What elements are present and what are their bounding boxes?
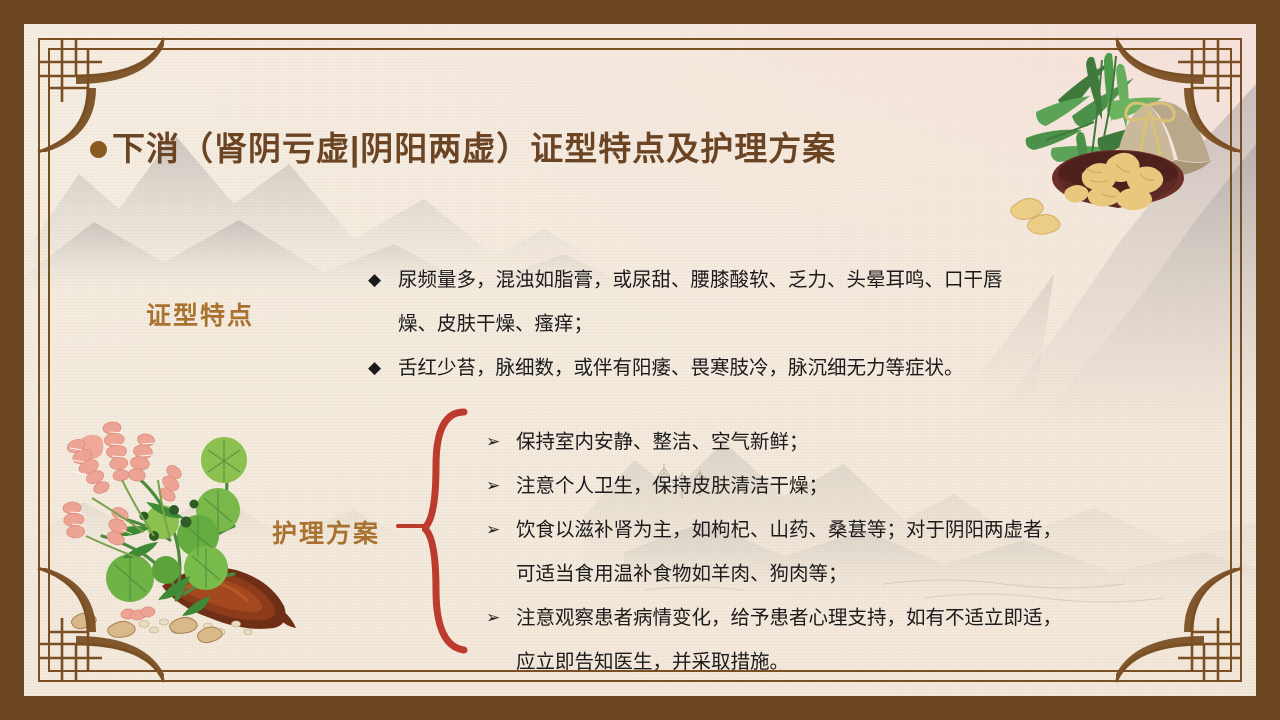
list-item-line: 注意观察患者病情变化，给予患者心理支持，如有不适立即适，	[516, 596, 1201, 640]
list-item: ◆ 尿频量多，混浊如脂膏，或尿甜、腰膝酸软、乏力、头晕耳鸣、口干唇 燥、皮肤干燥…	[368, 258, 1168, 346]
list-item: ◆ 舌红少苔，脉细数，或伴有阳痿、畏寒肢冷，脉沉细无力等症状。	[368, 346, 1168, 390]
page-title-text: 下消（肾阴亏虚|阴阳两虚）证型特点及护理方案	[112, 130, 836, 167]
slide-root: 下消（肾阴亏虚|阴阳两虚）证型特点及护理方案 证型特点 ◆ 尿频量多，混浊如脂膏…	[0, 0, 1280, 720]
list-item-line: 保持室内安静、整洁、空气新鲜；	[516, 420, 1201, 464]
list-item-line: 燥、皮肤干燥、瘙痒；	[398, 302, 1168, 346]
list-item: ➢ 注意观察患者病情变化，给予患者心理支持，如有不适立即适， 应立即告知医生，并…	[486, 596, 1201, 684]
section-label-zhengxing-tedian: 证型特点	[146, 296, 254, 332]
corner-ornament-bottom-left	[32, 538, 182, 688]
list-item: ➢ 注意个人卫生，保持皮肤清洁干燥；	[486, 464, 1201, 508]
arrow-bullet-icon: ➢	[486, 596, 500, 640]
list-item: ➢ 保持室内安静、整洁、空气新鲜；	[486, 420, 1201, 464]
diamond-bullet-icon: ◆	[368, 258, 381, 302]
page-title: 下消（肾阴亏虚|阴阳两虚）证型特点及护理方案	[90, 122, 836, 170]
diamond-bullet-icon: ◆	[368, 346, 381, 390]
list-item-line: 饮食以滋补肾为主，如枸杞、山药、桑葚等；对于阴阳两虚者，	[516, 508, 1201, 552]
list-item-line: 可适当食用温补食物如羊肉、狗肉等；	[516, 552, 1201, 596]
arrow-bullet-icon: ➢	[486, 508, 500, 552]
section-body-zhengxing-tedian: ◆ 尿频量多，混浊如脂膏，或尿甜、腰膝酸软、乏力、头晕耳鸣、口干唇 燥、皮肤干燥…	[368, 258, 1168, 390]
red-curly-brace	[422, 408, 468, 654]
list-item-line: 应立即告知医生，并采取措施。	[516, 640, 1201, 684]
list-item-line: 舌红少苔，脉细数，或伴有阳痿、畏寒肢冷，脉沉细无力等症状。	[398, 346, 1168, 390]
corner-ornament-top-right	[1098, 32, 1248, 182]
slide-paper: 下消（肾阴亏虚|阴阳两虚）证型特点及护理方案 证型特点 ◆ 尿频量多，混浊如脂膏…	[24, 24, 1256, 696]
ginger-herb-bowl-illustration	[998, 42, 1250, 242]
list-item: ➢ 饮食以滋补肾为主，如枸杞、山药、桑葚等；对于阴阳两虚者， 可适当食用温补食物…	[486, 508, 1201, 596]
section-label-huli-fangan: 护理方案	[272, 514, 380, 550]
list-item-line: 注意个人卫生，保持皮肤清洁干燥；	[516, 464, 1201, 508]
title-bullet-icon	[90, 141, 107, 158]
arrow-bullet-icon: ➢	[486, 464, 500, 508]
arrow-bullet-icon: ➢	[486, 420, 500, 464]
section-body-huli-fangan: ➢ 保持室内安静、整洁、空气新鲜； ➢ 注意个人卫生，保持皮肤清洁干燥； ➢ 饮…	[486, 420, 1201, 684]
list-item-line: 尿频量多，混浊如脂膏，或尿甜、腰膝酸软、乏力、头晕耳鸣、口干唇	[398, 258, 1168, 302]
